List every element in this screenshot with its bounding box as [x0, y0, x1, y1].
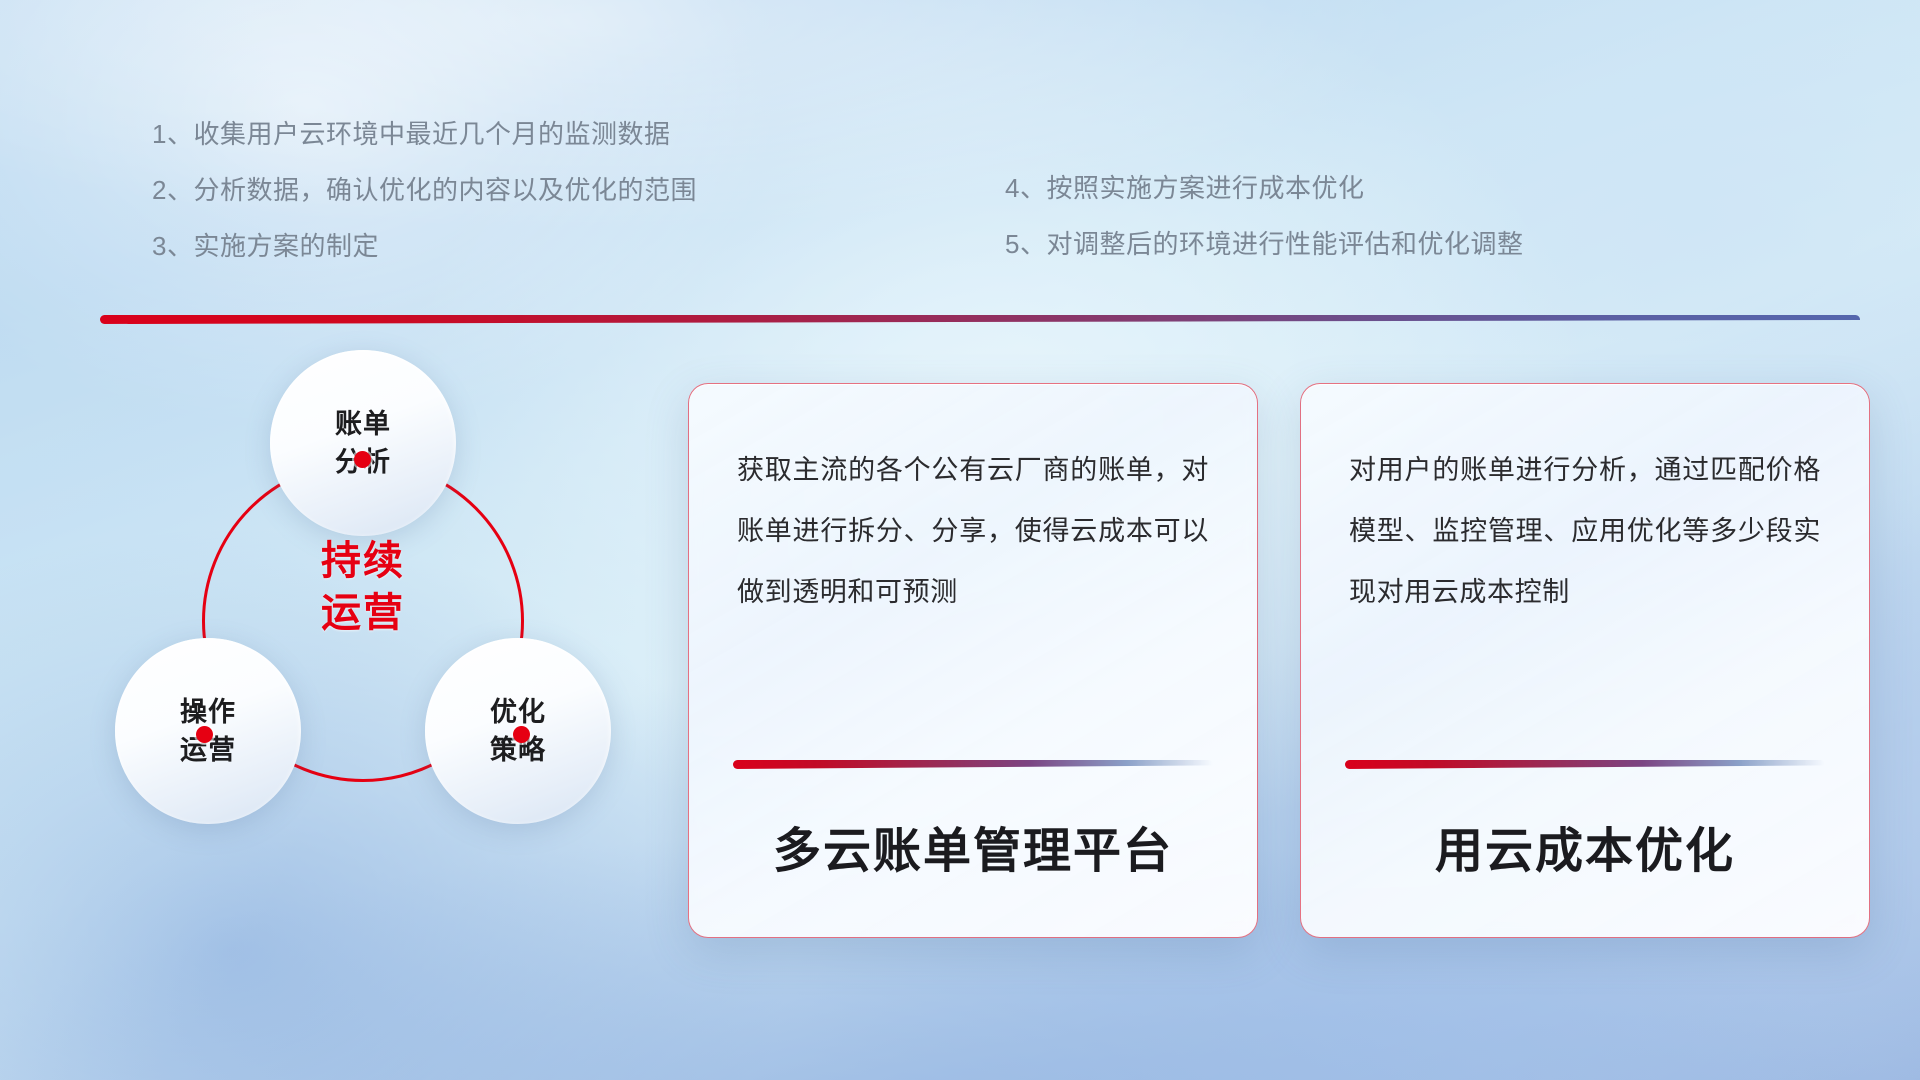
card-title: 用云成本优化: [1345, 769, 1825, 937]
card-accent-bar: [1345, 760, 1825, 769]
process-step-1: 1、收集用户云环境中最近几个月的监测数据: [152, 106, 697, 162]
card-title: 多云账单管理平台: [733, 769, 1213, 937]
process-step-2: 2、分析数据，确认优化的内容以及优化的范围: [152, 162, 697, 218]
process-step-4: 4、按照实施方案进行成本优化: [1005, 160, 1523, 216]
feature-card-multicloud-billing[interactable]: 获取主流的各个公有云厂商的账单，对账单进行拆分、分享，使得云成本可以做到透明和可…: [688, 383, 1258, 938]
diagram-bubble-bill-analysis[interactable]: 账单 分析: [270, 350, 456, 536]
process-step-5: 5、对调整后的环境进行性能评估和优化调整: [1005, 216, 1523, 272]
feature-card-cloud-cost-optimization[interactable]: 对用户的账单进行分析，通过匹配价格模型、监控管理、应用优化等多少段实现对用云成本…: [1300, 383, 1870, 938]
diagram-center-label: 持续 运营: [255, 535, 471, 639]
slide-canvas: 1、收集用户云环境中最近几个月的监测数据 2、分析数据，确认优化的内容以及优化的…: [0, 0, 1920, 1080]
process-step-3: 3、实施方案的制定: [152, 218, 697, 274]
card-body-text: 获取主流的各个公有云厂商的账单，对账单进行拆分、分享，使得云成本可以做到透明和可…: [733, 440, 1213, 623]
process-steps-right: 4、按照实施方案进行成本优化 5、对调整后的环境进行性能评估和优化调整: [1005, 160, 1523, 272]
card-body-text: 对用户的账单进行分析，通过匹配价格模型、监控管理、应用优化等多少段实现对用云成本…: [1345, 440, 1825, 623]
process-steps-left: 1、收集用户云环境中最近几个月的监测数据 2、分析数据，确认优化的内容以及优化的…: [152, 106, 697, 274]
ring-node-dot-top: [354, 451, 371, 468]
section-divider-line: [100, 315, 1860, 324]
bubble-label: 账单 分析: [335, 405, 391, 481]
ring-node-dot-right: [513, 726, 530, 743]
ring-node-dot-left: [196, 726, 213, 743]
card-accent-bar: [733, 760, 1213, 769]
continuous-operation-diagram: 账单 分析 操作 运营 优化 策略 持续 运营: [95, 350, 615, 950]
